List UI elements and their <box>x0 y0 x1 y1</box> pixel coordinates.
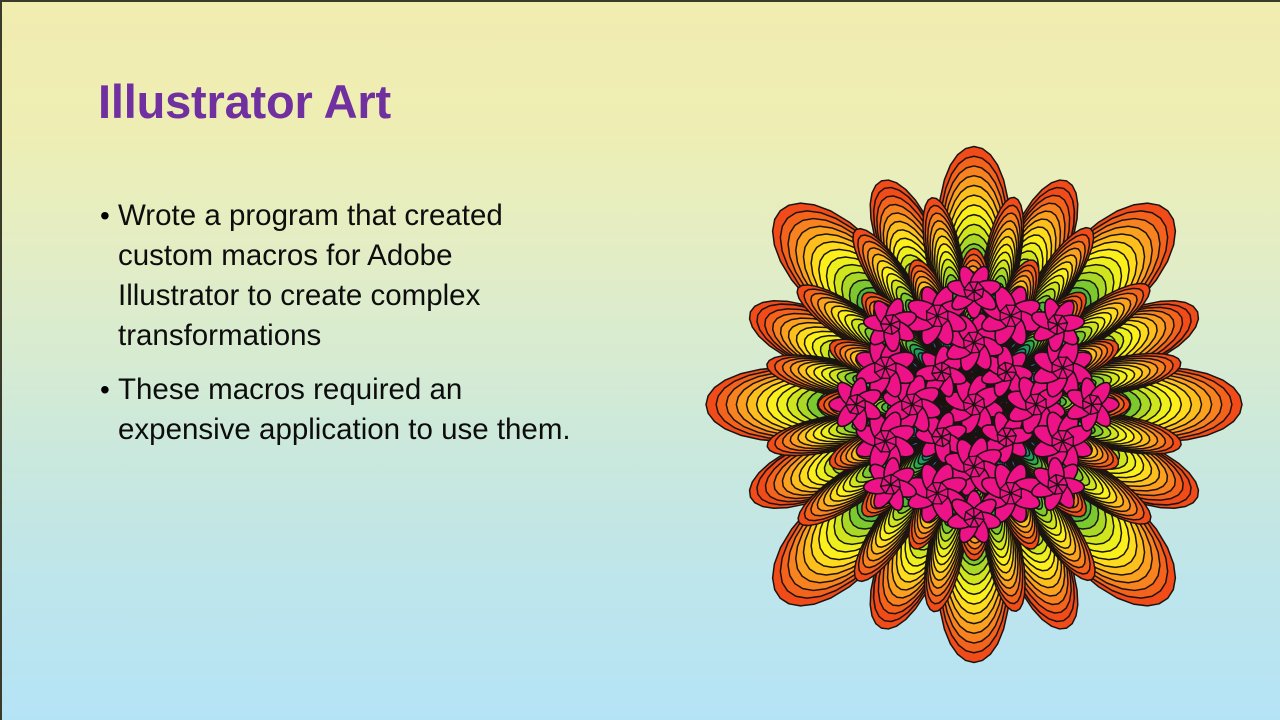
mandala-svg <box>704 142 1244 667</box>
page-title: Illustrator Art <box>98 76 391 128</box>
list-item: • Wrote a program that created custom ma… <box>94 196 614 356</box>
bullet-text: These macros required an expensive appli… <box>118 370 580 450</box>
bullet-text: Wrote a program that created custom macr… <box>118 196 580 356</box>
bullet-marker-icon: • <box>94 196 118 236</box>
rainbow-kaleidoscope-mandala-image <box>704 142 1244 667</box>
bullet-marker-icon: • <box>94 370 118 410</box>
bullet-list: • Wrote a program that created custom ma… <box>94 196 614 464</box>
presentation-slide: Illustrator Art • Wrote a program that c… <box>0 0 1280 720</box>
list-item: • These macros required an expensive app… <box>94 370 614 450</box>
